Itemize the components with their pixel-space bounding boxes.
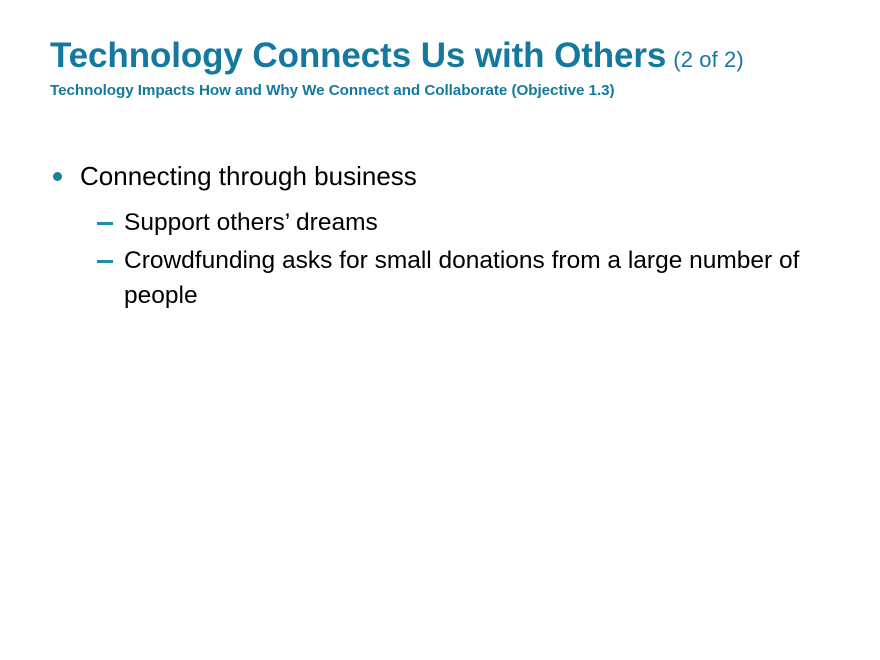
slide-title-part-indicator: (2 of 2): [673, 47, 744, 72]
bullet-item-label: Support others’ dreams: [124, 206, 850, 241]
slide-subtitle: Technology Impacts How and Why We Connec…: [50, 82, 850, 99]
slide-canvas: Technology Connects Us with Others(2 of …: [0, 0, 880, 660]
bullet-dot-icon: [53, 172, 62, 181]
bullet-item-label: Crowdfunding asks for small donations fr…: [124, 244, 850, 314]
dash-icon: [97, 222, 113, 225]
bullet-list-item: Connecting through business: [50, 159, 850, 194]
bullet-list-item: Support others’ dreams: [50, 206, 850, 241]
bullet-item-label: Connecting through business: [80, 159, 850, 194]
slide-title: Technology Connects Us with Others(2 of …: [50, 38, 850, 75]
dash-icon: [97, 260, 113, 263]
bullet-list-item: Crowdfunding asks for small donations fr…: [50, 244, 850, 314]
slide-header: Technology Connects Us with Others(2 of …: [50, 38, 850, 99]
slide-body: Connecting through business Support othe…: [50, 159, 850, 318]
slide-title-main: Technology Connects Us with Others: [50, 36, 666, 75]
